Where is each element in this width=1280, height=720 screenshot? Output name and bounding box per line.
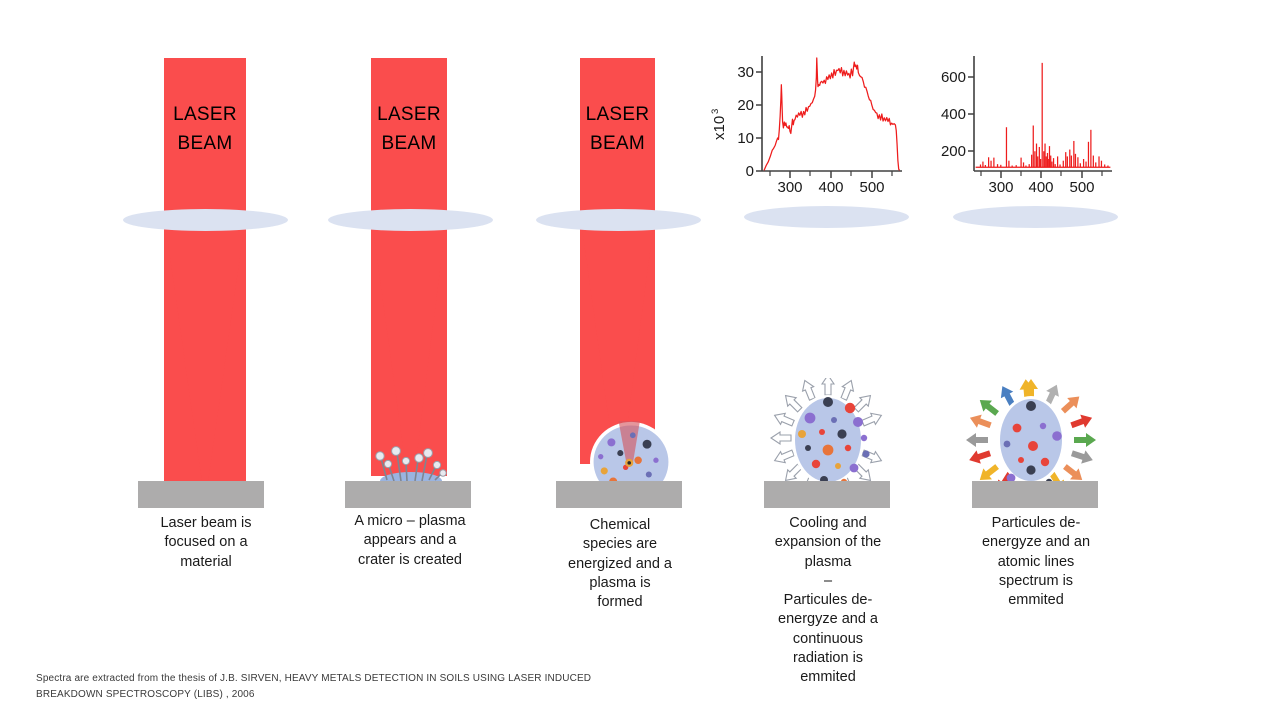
emission-arrow bbox=[1074, 433, 1096, 447]
xtick-300: 300 bbox=[777, 179, 802, 194]
sample-substrate-3 bbox=[556, 481, 682, 508]
ytick-20: 20 bbox=[737, 97, 754, 114]
chart-atomic-line-spectrum: 600 400 200 300 400 500 bbox=[920, 48, 1116, 194]
sample-substrate-4 bbox=[764, 481, 890, 508]
focusing-lens-1 bbox=[123, 209, 288, 231]
emission-arrow bbox=[967, 447, 992, 467]
yaxis-multiplier-exponent: 3 bbox=[710, 109, 721, 114]
ytick-400: 400 bbox=[941, 106, 966, 123]
xtick-400: 400 bbox=[818, 179, 843, 194]
laser-beam-label-3: LASERBEAM bbox=[580, 100, 655, 158]
xtick-300: 300 bbox=[988, 179, 1013, 194]
ytick-600: 600 bbox=[941, 69, 966, 86]
focusing-lens-5 bbox=[953, 206, 1118, 228]
xtick-500: 500 bbox=[1069, 179, 1094, 194]
xtick-500: 500 bbox=[859, 179, 884, 194]
emission-arrow bbox=[1070, 447, 1095, 467]
panel-caption-2: A micro – plasma appears and a crater is… bbox=[325, 512, 495, 570]
focusing-lens-3 bbox=[536, 209, 701, 231]
laser-beam-column-1: LASERBEAM bbox=[164, 58, 246, 216]
chart-continuum-spectrum: x10 3 30 20 10 0 bbox=[706, 48, 906, 194]
panel-caption-1: Laser beam is focused on a material bbox=[123, 514, 289, 572]
ytick-10: 10 bbox=[737, 130, 754, 147]
emission-arrow bbox=[1058, 391, 1084, 416]
emission-arrow bbox=[968, 411, 993, 432]
panel-caption-4: Cooling and expansion of the plasma – Pa… bbox=[752, 514, 904, 688]
yaxis-multiplier-label: x10 bbox=[711, 116, 728, 140]
panel-caption-5: Particules de- energyze and an atomic li… bbox=[960, 514, 1112, 610]
slide-canvas: LASERBEAM Laser beam is focused on a mat… bbox=[0, 0, 1280, 720]
sample-substrate-2 bbox=[345, 481, 471, 508]
laser-beam-label-1: LASERBEAM bbox=[164, 100, 246, 158]
source-footnote: Spectra are extracted from the thesis of… bbox=[36, 671, 736, 702]
laser-beam-column-3: LASERBEAM bbox=[580, 58, 655, 216]
laser-beam-cone-1 bbox=[164, 214, 246, 482]
xtick-400: 400 bbox=[1028, 179, 1053, 194]
emission-arrow bbox=[1069, 411, 1094, 432]
sample-substrate-5 bbox=[972, 481, 1098, 508]
panel-caption-3: Chemical species are energized and a pla… bbox=[545, 516, 695, 612]
continuum-spectrum-trace bbox=[764, 58, 899, 170]
atomic-lines-trace bbox=[976, 63, 1111, 167]
focusing-lens-4 bbox=[744, 206, 909, 228]
laser-beam-label-2: LASERBEAM bbox=[371, 100, 447, 158]
ytick-0: 0 bbox=[746, 163, 754, 180]
ytick-200: 200 bbox=[941, 143, 966, 160]
focusing-lens-2 bbox=[328, 209, 493, 231]
ytick-30: 30 bbox=[737, 64, 754, 81]
emission-arrow bbox=[966, 433, 988, 447]
laser-beam-column-2: LASERBEAM bbox=[371, 58, 447, 216]
sample-substrate-1 bbox=[138, 481, 264, 508]
